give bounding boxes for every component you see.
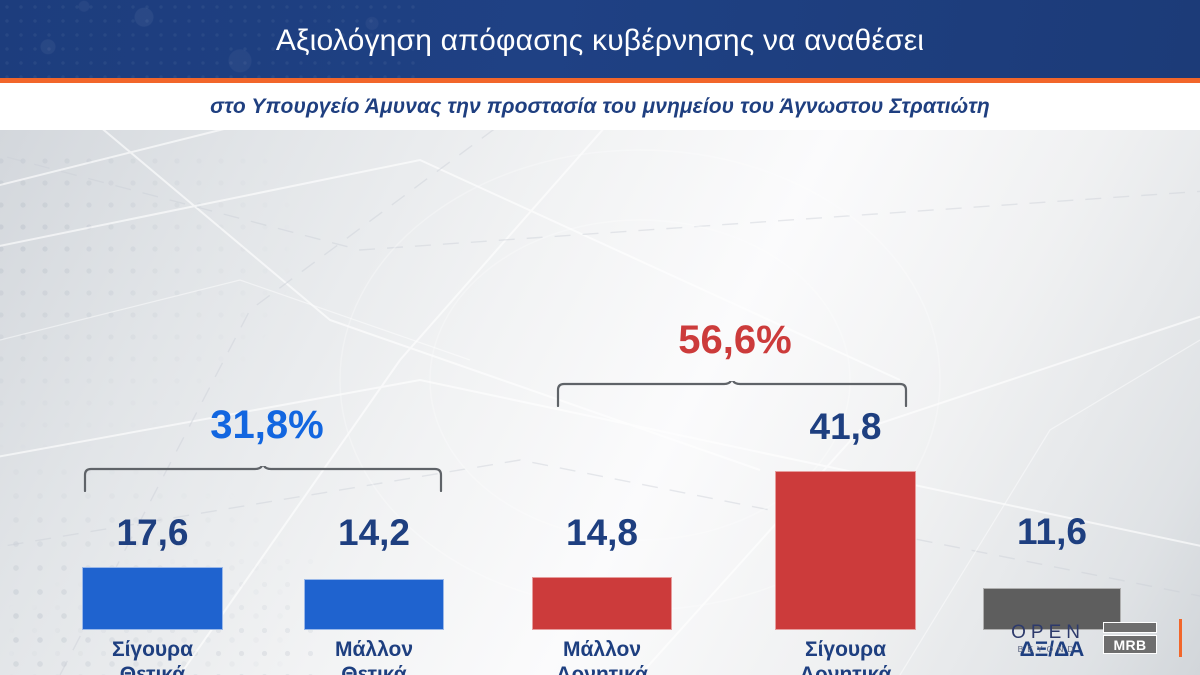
bar-value-dk-da: 11,6 [1017,513,1087,550]
footer-logos: OPEN BEYOND MRB [1006,619,1182,657]
bar-value-mallon-thetika: 14,2 [338,514,410,551]
open-beyond-logo: OPEN BEYOND [1006,623,1085,654]
bar-group-sigoura-thetika: 17,6 Σίγουρα Θετικά [82,130,223,630]
bar-rect-sigoura-thetika[interactable] [82,567,223,630]
mrb-logo-box: MRB [1103,635,1157,654]
bar-label-mallon-arnitika: Μάλλον Αρνητικά [556,638,648,675]
bar-label-line-1: Μάλλον [335,638,413,661]
bar-group-dk-da: 11,6 ΔΞ/ΔΑ [983,130,1121,630]
bar-label-sigoura-arnitika: Σίγουρα Αρνητικά [800,638,892,675]
mrb-logo: MRB [1103,622,1157,654]
bar-value-mallon-arnitika: 14,8 [566,514,638,551]
bar-group-mallon-thetika: 14,2 Μάλλον Θετικά [304,130,444,630]
bar-label-line-2: Θετικά [341,663,406,675]
orange-accent-tick [1179,619,1182,657]
bar-label-line-1: Μάλλον [563,638,641,661]
open-logo-subtext: BEYOND [1014,645,1078,654]
bar-value-sigoura-thetika: 17,6 [116,514,188,551]
bar-group-sigoura-arnitika: 41,8 Σίγουρα Αρνητικά [775,130,916,630]
mrb-logo-text: MRB [1113,638,1146,652]
bar-label-line-2: Θετικά [120,663,185,675]
open-logo-wordmark: OPEN [1006,623,1085,642]
page-title: Αξιολόγηση απόφασης κυβέρνησης να αναθέσ… [0,0,1200,78]
bar-rect-mallon-arnitika[interactable] [532,577,672,630]
bar-label-sigoura-thetika: Σίγουρα Θετικά [112,638,193,675]
bar-label-line-2: Αρνητικά [800,663,892,675]
bar-plot: 31,8% 17,6 Σίγουρα Θετικά 14,2 Μάλλον [0,130,1200,675]
header-band: Αξιολόγηση απόφασης κυβέρνησης να αναθέσ… [0,0,1200,78]
bar-label-mallon-thetika: Μάλλον Θετικά [335,638,413,675]
bar-rect-mallon-thetika[interactable] [304,579,444,630]
bar-label-line-1: Σίγουρα [805,638,886,661]
poll-result-slide: Αξιολόγηση απόφασης κυβέρνησης να αναθέσ… [0,0,1200,675]
page-subtitle: στο Υπουργείο Άμυνας την προστασία του μ… [210,95,990,119]
bar-group-mallon-arnitika: 14,8 Μάλλον Αρνητικά [532,130,672,630]
chart-area: 31,8% 17,6 Σίγουρα Θετικά 14,2 Μάλλον [0,130,1200,675]
mrb-logo-top-bar [1103,622,1157,633]
bar-label-line-2: Αρνητικά [556,663,648,675]
subtitle-band: στο Υπουργείο Άμυνας την προστασία του μ… [0,83,1200,130]
bar-value-sigoura-arnitika: 41,8 [809,408,881,445]
bar-label-line-1: Σίγουρα [112,638,193,661]
bar-rect-sigoura-arnitika[interactable] [775,471,916,630]
